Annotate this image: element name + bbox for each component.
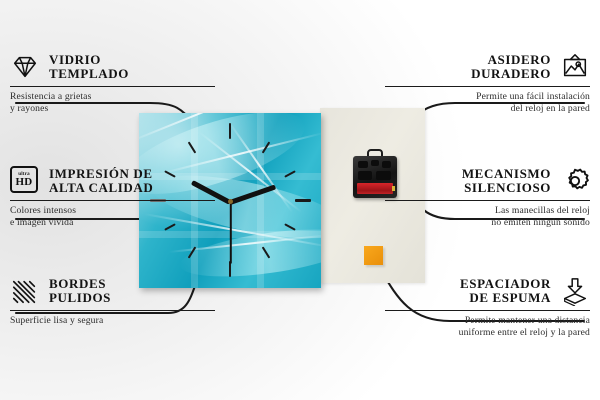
feature-description: Colores intensos e imagen vívida	[10, 205, 215, 228]
clock-center-pin	[228, 199, 233, 204]
feature-description: Superficie lisa y segura	[10, 315, 215, 327]
feature-vidrio-templado: VIDRIO TEMPLADO Resistencia a grietas y …	[10, 52, 215, 115]
feature-espaciador-de-espuma: ESPACIADOR DE ESPUMA Permite mantener un…	[385, 276, 590, 339]
foam-spacer-piece	[364, 246, 383, 265]
feature-divider	[385, 86, 590, 87]
feature-title: IMPRESIÓN DE ALTA CALIDAD	[49, 167, 153, 196]
feature-header: VIDRIO TEMPLADO	[10, 52, 215, 82]
diamond-icon	[10, 52, 40, 82]
feature-asidero-duradero: ASIDERO DURADERO Permite una fácil insta…	[385, 52, 590, 115]
feature-header: ESPACIADOR DE ESPUMA	[385, 276, 590, 306]
polished-edges-icon	[10, 276, 40, 306]
clock-tick-3	[295, 199, 311, 202]
feature-header: ASIDERO DURADERO	[385, 52, 590, 82]
gear-icon	[560, 166, 590, 196]
feature-title: MECANISMO SILENCIOSO	[462, 167, 551, 196]
feature-header: BORDES PULIDOS	[10, 276, 215, 306]
feature-impresion-alta-calidad: ultra HD IMPRESIÓN DE ALTA CALIDAD Color…	[10, 166, 215, 229]
infographic-canvas: VIDRIO TEMPLADO Resistencia a grietas y …	[0, 0, 600, 400]
feature-header: ultra HD IMPRESIÓN DE ALTA CALIDAD	[10, 166, 215, 196]
ultra-hd-icon: ultra HD	[10, 166, 40, 196]
clock-hand-second	[230, 202, 232, 264]
feature-description: Resistencia a grietas y rayones	[10, 91, 215, 114]
feature-bordes-pulidos: BORDES PULIDOS Superficie lisa y segura	[10, 276, 215, 327]
feature-title: ESPACIADOR DE ESPUMA	[460, 277, 551, 306]
hanging-picture-icon	[560, 52, 590, 82]
foam-spacer-icon	[560, 276, 590, 306]
feature-description: Permite una fácil instalación del reloj …	[385, 91, 590, 114]
feature-divider	[10, 310, 215, 311]
feature-divider	[10, 86, 215, 87]
feature-divider	[385, 200, 590, 201]
ultra-hd-icon-main-label: HD	[15, 177, 32, 188]
feature-title: BORDES PULIDOS	[49, 277, 111, 306]
feature-title: ASIDERO DURADERO	[471, 53, 551, 82]
feature-divider	[10, 200, 215, 201]
feature-description: Las manecillas del reloj no emiten ningú…	[385, 205, 590, 228]
feature-mecanismo-silencioso: MECANISMO SILENCIOSO Las manecillas del …	[385, 166, 590, 229]
feature-divider	[385, 310, 590, 311]
feature-header: MECANISMO SILENCIOSO	[385, 166, 590, 196]
feature-title: VIDRIO TEMPLADO	[49, 53, 129, 82]
feature-description: Permite mantener una distancia uniforme …	[385, 315, 590, 338]
